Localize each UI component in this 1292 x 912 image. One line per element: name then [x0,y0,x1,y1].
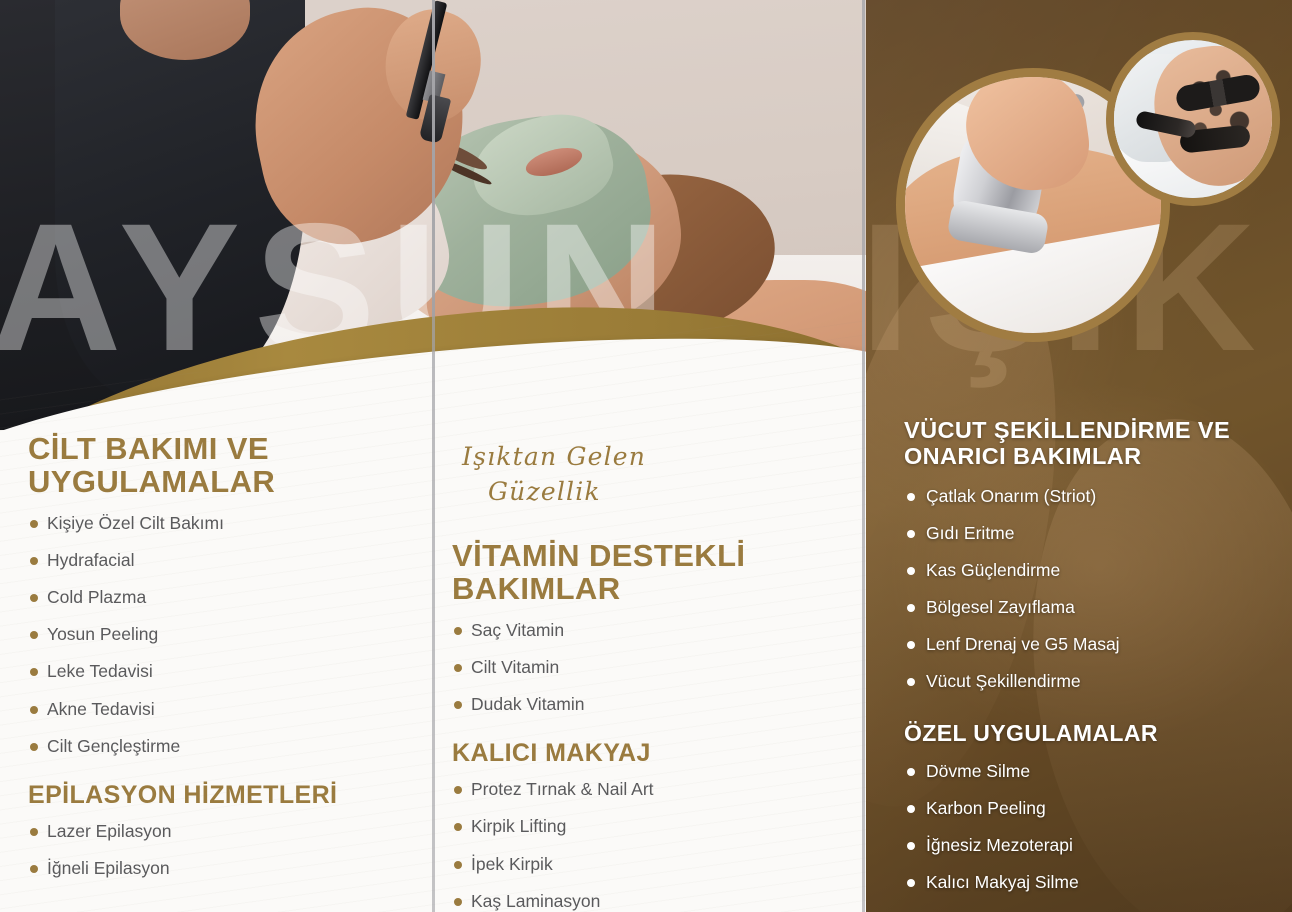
list-item: Leke Tedavisi [28,661,408,681]
heading-vitamin-destekli: VİTAMİN DESTEKLİ BAKIMLAR [452,539,844,606]
right-dark-panel: IŞIK [866,0,1292,912]
list-item: Cilt Gençleştirme [28,736,408,756]
list-vitamin: Saç Vitamin Cilt Vitamin Dudak Vitamin [452,620,844,714]
column-divider-one [432,0,435,912]
list-item: Protez Tırnak & Nail Art [452,779,844,799]
list-item: Lazer Epilasyon [28,821,408,841]
list-kalici-makyaj: Protez Tırnak & Nail Art Kirpik Lifting … [452,779,844,911]
list-item: İğneli Epilasyon [28,858,408,878]
list-item: Kas Güçlendirme [904,560,1272,580]
services-column-right: VÜCUT ŞEKİLLENDİRME VE ONARICI BAKIMLAR … [904,418,1272,909]
list-item: Lenf Drenaj ve G5 Masaj [904,634,1272,654]
services-column-left: CİLT BAKIMI VE UYGULAMALAR Kişiye Özel C… [28,432,408,895]
list-item: Kişiye Özel Cilt Bakımı [28,513,408,533]
list-item: Cold Plazma [28,587,408,607]
column-divider-two [862,0,865,912]
list-item: Dövme Silme [904,761,1272,781]
list-item: Dudak Vitamin [452,694,844,714]
list-item: Kaş Laminasyon [452,891,844,911]
heading-vucut-sekillendirme: VÜCUT ŞEKİLLENDİRME VE ONARICI BAKIMLAR [904,418,1272,470]
list-item: Kirpik Lifting [452,816,844,836]
list-item: Karbon Peeling [904,798,1272,818]
tagline-script: Işıktan Gelen Güzellik [462,440,844,509]
tagline-line2: Güzellik [488,475,844,510]
heading-ozel-uygulamalar: ÖZEL UYGULAMALAR [904,721,1272,746]
list-item: Hydrafacial [28,550,408,570]
tagline-line1: Işıktan Gelen [462,442,646,471]
list-epilasyon: Lazer Epilasyon İğneli Epilasyon [28,821,408,878]
list-item: Cilt Vitamin [452,657,844,677]
circle-photo-carbon-peel [1106,32,1280,206]
list-ozel-uygulamalar: Dövme Silme Karbon Peeling İğnesiz Mezot… [904,761,1272,893]
brochure-poster: AYSUN CİLT BAKIMI VE UYGULAMALAR Kişiye … [0,0,1292,912]
list-item: Kalıcı Makyaj Silme [904,872,1272,892]
list-item: Saç Vitamin [452,620,844,640]
list-item: Gıdı Eritme [904,523,1272,543]
heading-epilasyon: EPİLASYON HİZMETLERİ [28,782,408,809]
list-item: İğnesiz Mezoterapi [904,835,1272,855]
list-item: Bölgesel Zayıflama [904,597,1272,617]
services-column-middle: Işıktan Gelen Güzellik VİTAMİN DESTEKLİ … [452,440,844,912]
list-vucut-sekillendirme: Çatlak Onarım (Striot) Gıdı Eritme Kas G… [904,486,1272,692]
list-item: Yosun Peeling [28,624,408,644]
list-item: Vücut Şekillendirme [904,671,1272,691]
heading-cilt-bakimi: CİLT BAKIMI VE UYGULAMALAR [28,432,408,499]
heading-kalici-makyaj: KALICI MAKYAJ [452,740,844,767]
list-item: İpek Kirpik [452,854,844,874]
list-item: Çatlak Onarım (Striot) [904,486,1272,506]
list-item: Akne Tedavisi [28,699,408,719]
list-cilt-bakimi: Kişiye Özel Cilt Bakımı Hydrafacial Cold… [28,513,408,756]
